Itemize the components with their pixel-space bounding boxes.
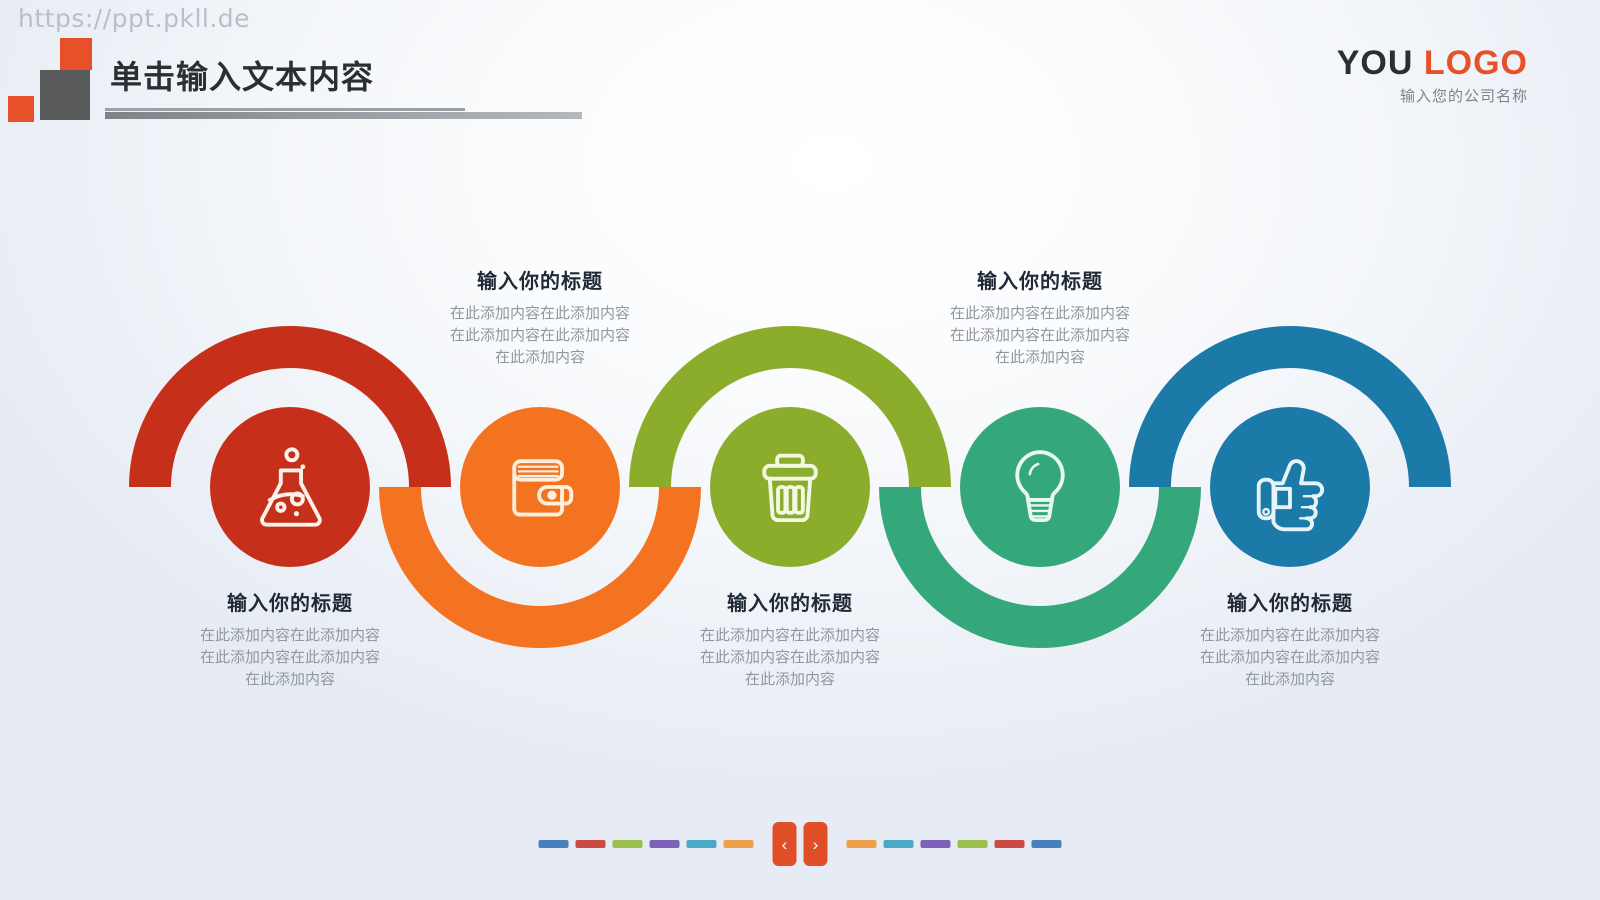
- step-node-3[interactable]: [710, 407, 870, 567]
- step-text-block-1: 输入你的标题在此添加内容在此添加内容 在此添加内容在此添加内容 在此添加内容: [140, 587, 440, 690]
- decoration-square-gray: [40, 70, 90, 120]
- title-rule-thick: [105, 112, 582, 119]
- step-title-5: 输入你的标题: [1140, 587, 1440, 616]
- prev-button[interactable]: ‹: [773, 822, 797, 866]
- page-title: 单击输入文本内容: [110, 52, 374, 98]
- nav-dash-right-6: [1032, 840, 1062, 848]
- logo-word-logo: LOGO: [1424, 44, 1528, 82]
- step-text-block-2: 输入你的标题在此添加内容在此添加内容 在此添加内容在此添加内容 在此添加内容: [390, 265, 690, 368]
- trash-icon: [744, 441, 836, 533]
- header-decoration: [0, 38, 110, 118]
- slide-navigation[interactable]: ‹ ›: [539, 822, 1062, 866]
- nav-dash-left-6: [724, 840, 754, 848]
- step-body-2: 在此添加内容在此添加内容 在此添加内容在此添加内容 在此添加内容: [390, 303, 690, 368]
- flask-icon: [244, 441, 336, 533]
- nav-dashes-left: [539, 840, 754, 848]
- step-node-1[interactable]: [210, 407, 370, 567]
- logo-word-you: YOU: [1337, 44, 1414, 82]
- next-button[interactable]: ›: [804, 822, 828, 866]
- step-body-1: 在此添加内容在此添加内容 在此添加内容在此添加内容 在此添加内容: [140, 625, 440, 690]
- step-body-4: 在此添加内容在此添加内容 在此添加内容在此添加内容 在此添加内容: [890, 303, 1190, 368]
- nav-dash-left-2: [576, 840, 606, 848]
- logo-wordmark: YOU LOGO: [1337, 46, 1528, 82]
- slide-canvas: https://ppt.pkll.de 单击输入文本内容 YOU LOGO 输入…: [0, 0, 1600, 900]
- nav-dashes-right: [847, 840, 1062, 848]
- wallet-icon: [494, 441, 586, 533]
- decoration-square-red-bottom: [8, 96, 34, 122]
- logo-block: YOU LOGO 输入您的公司名称: [1337, 46, 1528, 106]
- step-title-4: 输入你的标题: [890, 265, 1190, 294]
- step-body-3: 在此添加内容在此添加内容 在此添加内容在此添加内容 在此添加内容: [640, 625, 940, 690]
- lightbulb-icon: [994, 441, 1086, 533]
- nav-dash-right-1: [847, 840, 877, 848]
- step-title-1: 输入你的标题: [140, 587, 440, 616]
- step-title-2: 输入你的标题: [390, 265, 690, 294]
- title-rule-thin: [105, 108, 465, 111]
- step-title-3: 输入你的标题: [640, 587, 940, 616]
- nav-dash-left-3: [613, 840, 643, 848]
- nav-dash-right-5: [995, 840, 1025, 848]
- step-text-block-4: 输入你的标题在此添加内容在此添加内容 在此添加内容在此添加内容 在此添加内容: [890, 265, 1190, 368]
- nav-dash-left-1: [539, 840, 569, 848]
- thumbs-up-icon: [1244, 441, 1336, 533]
- nav-dash-right-2: [884, 840, 914, 848]
- step-node-5[interactable]: [1210, 407, 1370, 567]
- decoration-square-red-top: [60, 38, 92, 70]
- nav-dash-left-4: [650, 840, 680, 848]
- nav-dash-right-3: [921, 840, 951, 848]
- nav-dash-right-4: [958, 840, 988, 848]
- step-node-4[interactable]: [960, 407, 1120, 567]
- watermark-url: https://ppt.pkll.de: [18, 4, 250, 33]
- nav-dash-left-5: [687, 840, 717, 848]
- step-node-2[interactable]: [460, 407, 620, 567]
- logo-subtitle: 输入您的公司名称: [1337, 85, 1528, 106]
- step-body-5: 在此添加内容在此添加内容 在此添加内容在此添加内容 在此添加内容: [1140, 625, 1440, 690]
- step-text-block-5: 输入你的标题在此添加内容在此添加内容 在此添加内容在此添加内容 在此添加内容: [1140, 587, 1440, 690]
- step-text-block-3: 输入你的标题在此添加内容在此添加内容 在此添加内容在此添加内容 在此添加内容: [640, 587, 940, 690]
